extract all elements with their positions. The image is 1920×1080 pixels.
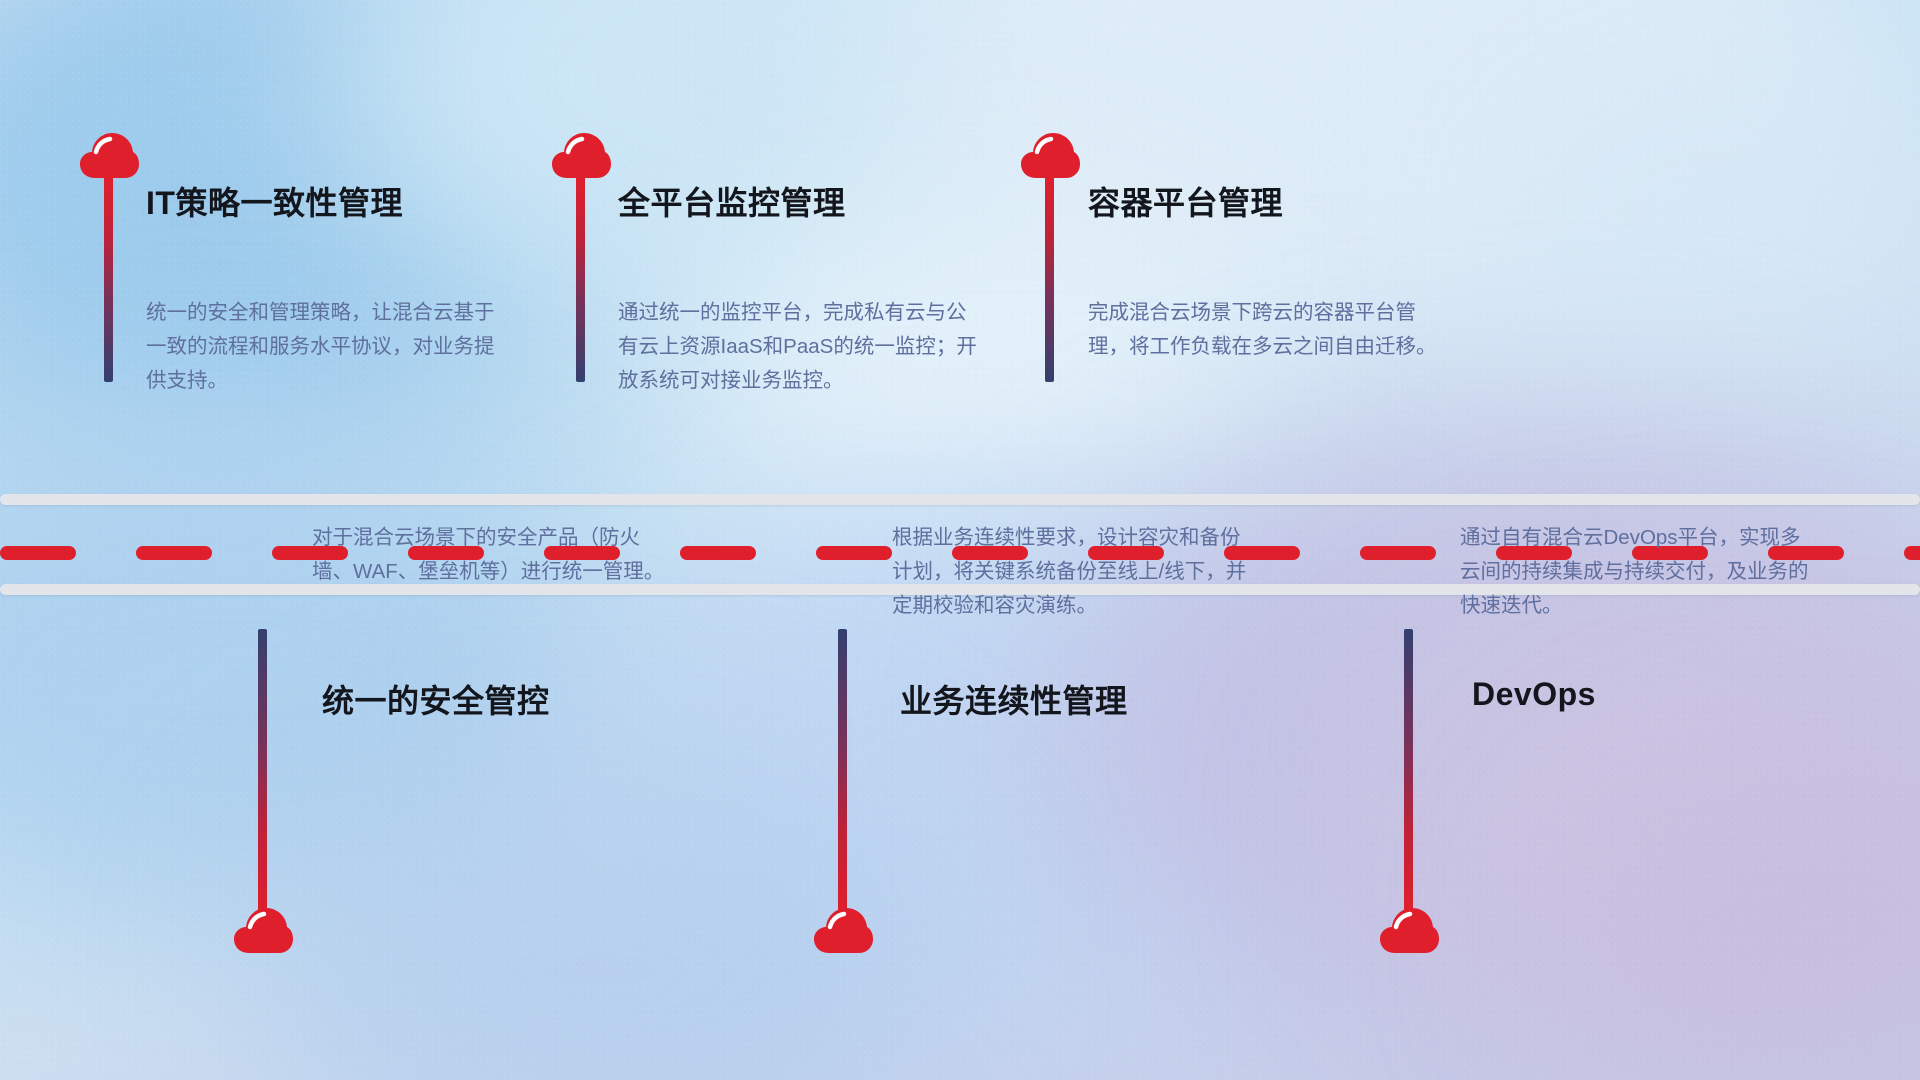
marker-stem bbox=[576, 176, 585, 382]
top-title-1: IT策略一致性管理 bbox=[146, 178, 403, 224]
marker-stem bbox=[104, 176, 113, 382]
cloud-pin-icon bbox=[550, 131, 612, 179]
road-dash-segment bbox=[680, 546, 756, 560]
cloud-pin-icon bbox=[1019, 131, 1081, 179]
bottom-body-2: 根据业务连续性要求，设计容灾和备份计划，将关键系统备份至线上/线下，并定期校验和… bbox=[892, 521, 1252, 623]
road-dash-segment bbox=[136, 546, 212, 560]
bottom-title-1: 统一的安全管控 bbox=[322, 676, 550, 722]
cloud-pin-icon bbox=[78, 131, 140, 179]
road-edge-top bbox=[0, 494, 1920, 505]
cloud-pin-icon bbox=[232, 906, 294, 954]
road-dash-segment bbox=[1360, 546, 1436, 560]
cloud-pin-icon bbox=[1378, 906, 1440, 954]
road-dash-segment bbox=[0, 546, 76, 560]
road-dash-segment bbox=[816, 546, 892, 560]
bottom-body-1: 对于混合云场景下的安全产品（防火墙、WAF、堡垒机等）进行统一管理。 bbox=[312, 521, 672, 589]
road-dash-segment bbox=[1904, 546, 1920, 560]
bottom-title-2: 业务连续性管理 bbox=[900, 676, 1128, 722]
bottom-title-3: DevOps bbox=[1472, 676, 1596, 713]
bottom-body-3: 通过自有混合云DevOps平台，实现多云间的持续集成与持续交付，及业务的快速迭代… bbox=[1460, 521, 1812, 623]
cloud-pin-icon bbox=[812, 906, 874, 954]
marker-stem bbox=[1404, 629, 1413, 917]
top-title-3: 容器平台管理 bbox=[1088, 178, 1283, 224]
marker-stem bbox=[838, 629, 847, 917]
top-body-1: 统一的安全和管理策略，让混合云基于一致的流程和服务水平协议，对业务提供支持。 bbox=[146, 296, 498, 398]
top-title-2: 全平台监控管理 bbox=[618, 178, 846, 224]
marker-stem bbox=[1045, 176, 1054, 382]
top-body-2: 通过统一的监控平台，完成私有云与公有云上资源IaaS和PaaS的统一监控；开放系… bbox=[618, 296, 978, 398]
top-body-3: 完成混合云场景下跨云的容器平台管理，将工作负载在多云之间自由迁移。 bbox=[1088, 296, 1440, 364]
marker-stem bbox=[258, 629, 267, 917]
infographic-canvas: IT策略一致性管理 统一的安全和管理策略，让混合云基于一致的流程和服务水平协议，… bbox=[0, 0, 1920, 1080]
